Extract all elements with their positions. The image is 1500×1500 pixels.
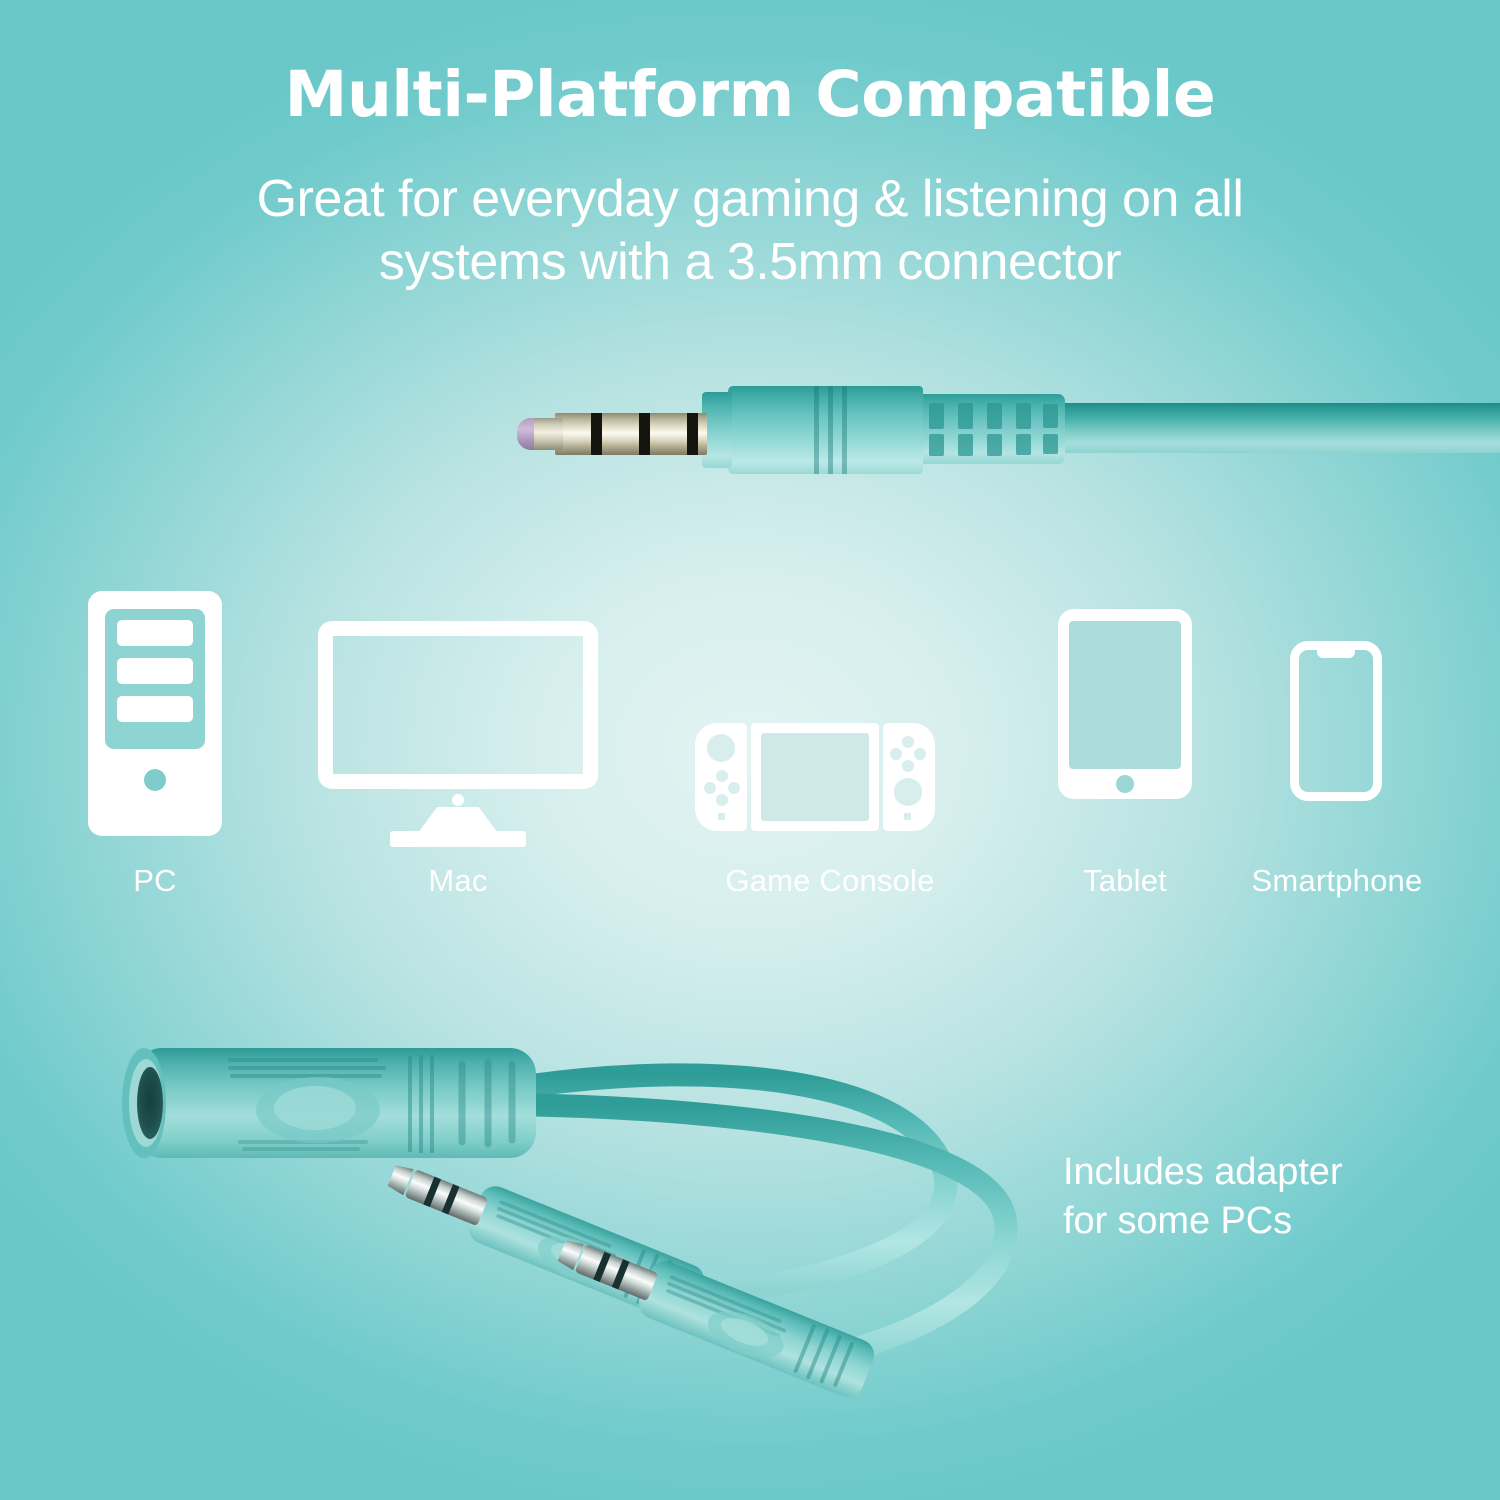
monitor-stand-neck (418, 807, 498, 833)
cable (1045, 403, 1500, 453)
subtitle-line-2: systems with a 3.5mm connector (0, 231, 1500, 294)
device-label-tablet: Tablet (1035, 863, 1215, 899)
plug-insulator-ring (687, 413, 698, 455)
smartphone-icon (1290, 641, 1382, 801)
device-label-pc: PC (55, 863, 255, 899)
dpad-down-icon (716, 794, 728, 806)
left-analog-stick-icon (707, 734, 735, 762)
plug-tip-highlight (517, 418, 534, 450)
face-button-a-icon (914, 748, 926, 760)
power-button-icon (144, 769, 166, 791)
tablet-home-button-icon (1116, 775, 1134, 793)
splitter-adapter-image (110, 1000, 1110, 1420)
device-label-smartphone: Smartphone (1232, 863, 1442, 899)
adapter-note: Includes adapter for some PCs (1063, 1148, 1463, 1245)
right-analog-stick-icon (894, 778, 922, 806)
phone-notch (1317, 649, 1355, 658)
plug-insulator-ring (639, 413, 650, 455)
subtitle-line-1: Great for everyday gaming & listening on… (0, 168, 1500, 231)
face-button-x-icon (902, 736, 914, 748)
monitor-logo-dot (452, 794, 464, 806)
device-label-game-console: Game Console (700, 863, 960, 899)
capture-button-icon (718, 813, 725, 820)
dpad-up-icon (716, 770, 728, 782)
device-icon-tablet (1058, 609, 1192, 799)
page-title: Multi-Platform Compatible (0, 62, 1500, 128)
device-icon-pc (88, 591, 222, 836)
face-button-b-icon (902, 760, 914, 772)
female-jack-connector (122, 1048, 536, 1158)
monitor-icon (318, 621, 598, 789)
headset-connector-image (255, 372, 1500, 532)
device-label-mac: Mac (358, 863, 558, 899)
tower-drive-bay-panel (105, 609, 205, 749)
monitor-stand-base (390, 831, 526, 847)
tablet-screen (1069, 621, 1181, 769)
infographic-canvas: Multi-Platform Compatible Great for ever… (0, 0, 1500, 1500)
dpad-right-icon (728, 782, 740, 794)
plug-insulator-ring (591, 413, 602, 455)
plug-metal-shaft (555, 413, 707, 455)
plug-strain-relief (915, 394, 1065, 464)
device-icon-game-console (695, 723, 935, 831)
face-button-y-icon (890, 748, 902, 760)
page-subtitle: Great for everyday gaming & listening on… (0, 168, 1500, 295)
home-button-icon (904, 813, 911, 820)
console-screen (761, 733, 869, 821)
dpad-left-icon (704, 782, 716, 794)
adapter-note-line-1: Includes adapter (1063, 1148, 1463, 1197)
adapter-note-line-2: for some PCs (1063, 1197, 1463, 1246)
plug-housing (728, 386, 923, 474)
device-icon-mac (318, 621, 598, 836)
compatible-devices-row: PC Mac (0, 575, 1500, 925)
